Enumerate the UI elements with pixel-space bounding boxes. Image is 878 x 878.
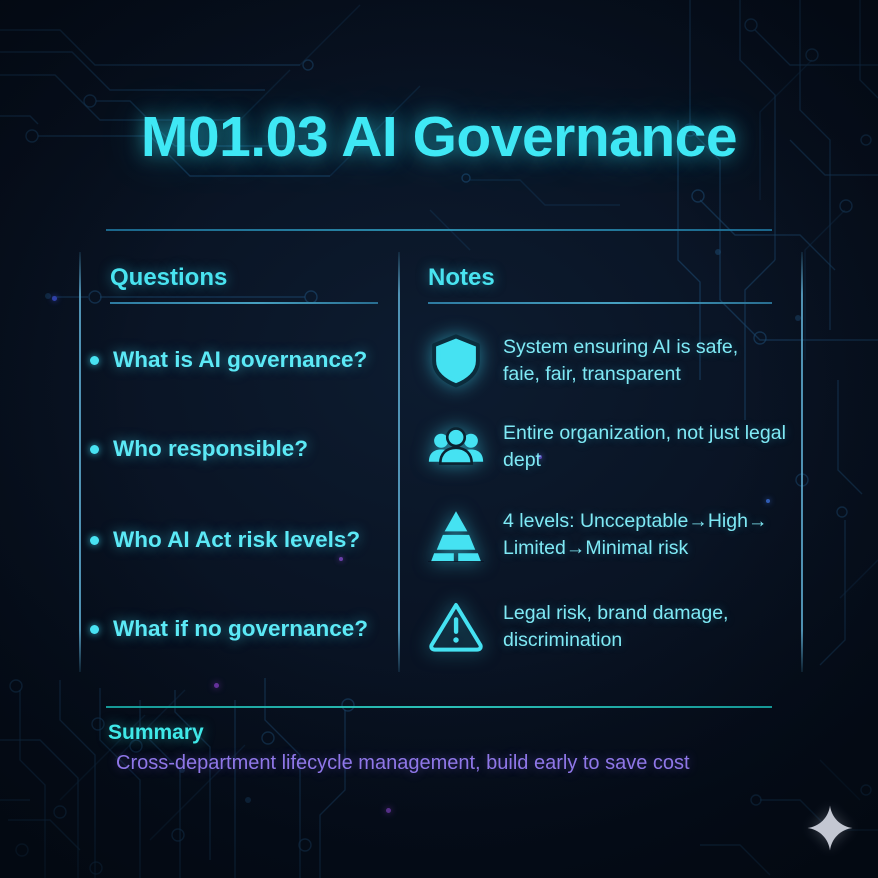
summary-text: Cross-department lifecycle management, b… bbox=[116, 752, 690, 775]
slide-canvas: M01.03 AI Governance Questions Notes Wha… bbox=[0, 0, 878, 878]
column-header-notes: Notes bbox=[428, 264, 495, 292]
people-group-icon bbox=[428, 418, 484, 474]
summary-label: Summary bbox=[108, 721, 204, 745]
table-left-border bbox=[79, 252, 81, 672]
bullet-icon bbox=[90, 356, 99, 365]
warning-triangle-icon bbox=[428, 598, 484, 654]
bullet-icon bbox=[90, 625, 99, 634]
questions-header-underline bbox=[110, 302, 378, 304]
speck bbox=[214, 683, 219, 688]
table-top-rule bbox=[106, 229, 772, 231]
speck bbox=[386, 808, 391, 813]
pyramid-icon bbox=[428, 506, 484, 562]
column-header-questions: Questions bbox=[110, 264, 227, 292]
speck bbox=[339, 557, 343, 561]
question-text: Who responsible? bbox=[113, 436, 308, 462]
shield-icon bbox=[428, 332, 484, 388]
speck bbox=[52, 296, 57, 301]
summary-divider bbox=[106, 706, 772, 708]
table-row: Who AI Act risk levels? bbox=[90, 527, 360, 553]
page-title: M01.03 AI Governance bbox=[0, 104, 878, 170]
question-text: What if no governance? bbox=[113, 616, 368, 642]
bullet-icon bbox=[90, 536, 99, 545]
note-text: System ensuring AI is safe, faie, fair, … bbox=[503, 332, 738, 388]
question-text: What is AI governance? bbox=[113, 347, 367, 373]
table-column-divider bbox=[398, 252, 400, 672]
table-row: 4 levels: Uncceptable→High→ Limited→Mini… bbox=[428, 506, 823, 562]
table-row: Legal risk, brand damage, discrimination bbox=[428, 598, 823, 654]
table-row: Who responsible? bbox=[90, 436, 308, 462]
table-row: Entire organization, not just legal dept bbox=[428, 418, 823, 474]
sparkle-icon bbox=[806, 804, 854, 852]
table-row: System ensuring AI is safe, faie, fair, … bbox=[428, 332, 823, 388]
note-text: Entire organization, not just legal dept bbox=[503, 418, 823, 474]
note-text: 4 levels: Uncceptable→High→ Limited→Mini… bbox=[503, 506, 767, 562]
table-row: What is AI governance? bbox=[90, 347, 367, 373]
table-row: What if no governance? bbox=[90, 616, 368, 642]
notes-header-underline bbox=[428, 302, 772, 304]
question-text: Who AI Act risk levels? bbox=[113, 527, 360, 553]
bullet-icon bbox=[90, 445, 99, 454]
note-text: Legal risk, brand damage, discrimination bbox=[503, 598, 728, 654]
speck bbox=[766, 499, 770, 503]
